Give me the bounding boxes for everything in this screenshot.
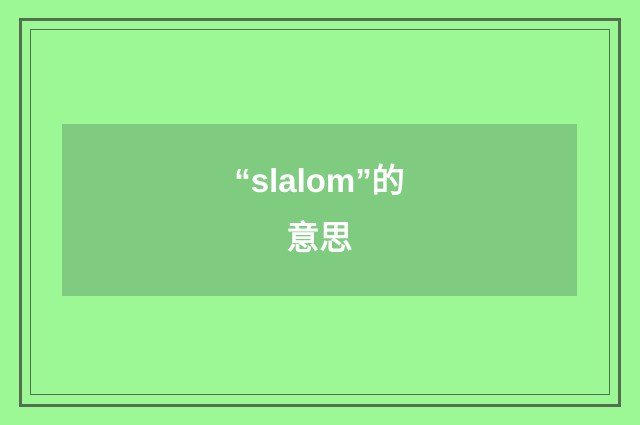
- page-title: “slalom”的意思: [227, 153, 413, 267]
- title-card: “slalom”的意思: [62, 124, 577, 296]
- page-canvas: “slalom”的意思: [0, 0, 640, 425]
